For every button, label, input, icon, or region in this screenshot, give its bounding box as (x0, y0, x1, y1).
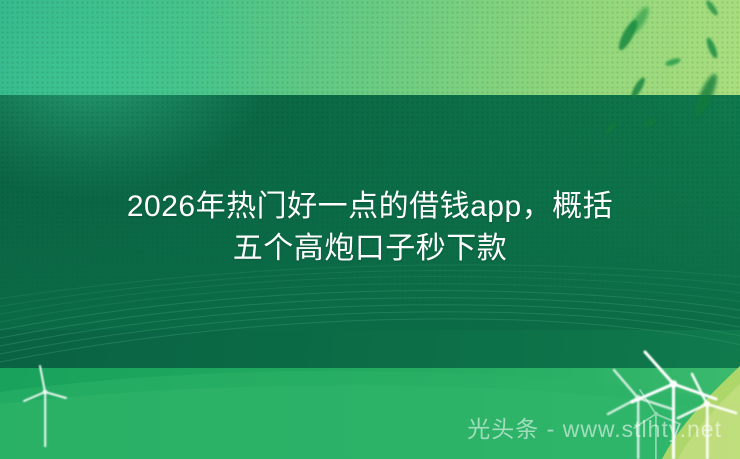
background-band-top (0, 0, 740, 95)
banner-image: 2026年热门好一点的借钱app，概括 五个高炮口子秒下款 光头条 - www.… (0, 0, 740, 459)
background-band-bottom (0, 368, 740, 459)
banner-title: 2026年热门好一点的借钱app，概括 五个高炮口子秒下款 (0, 186, 740, 270)
watermark-text: 光头条 - www.stlhty.net (467, 418, 722, 441)
